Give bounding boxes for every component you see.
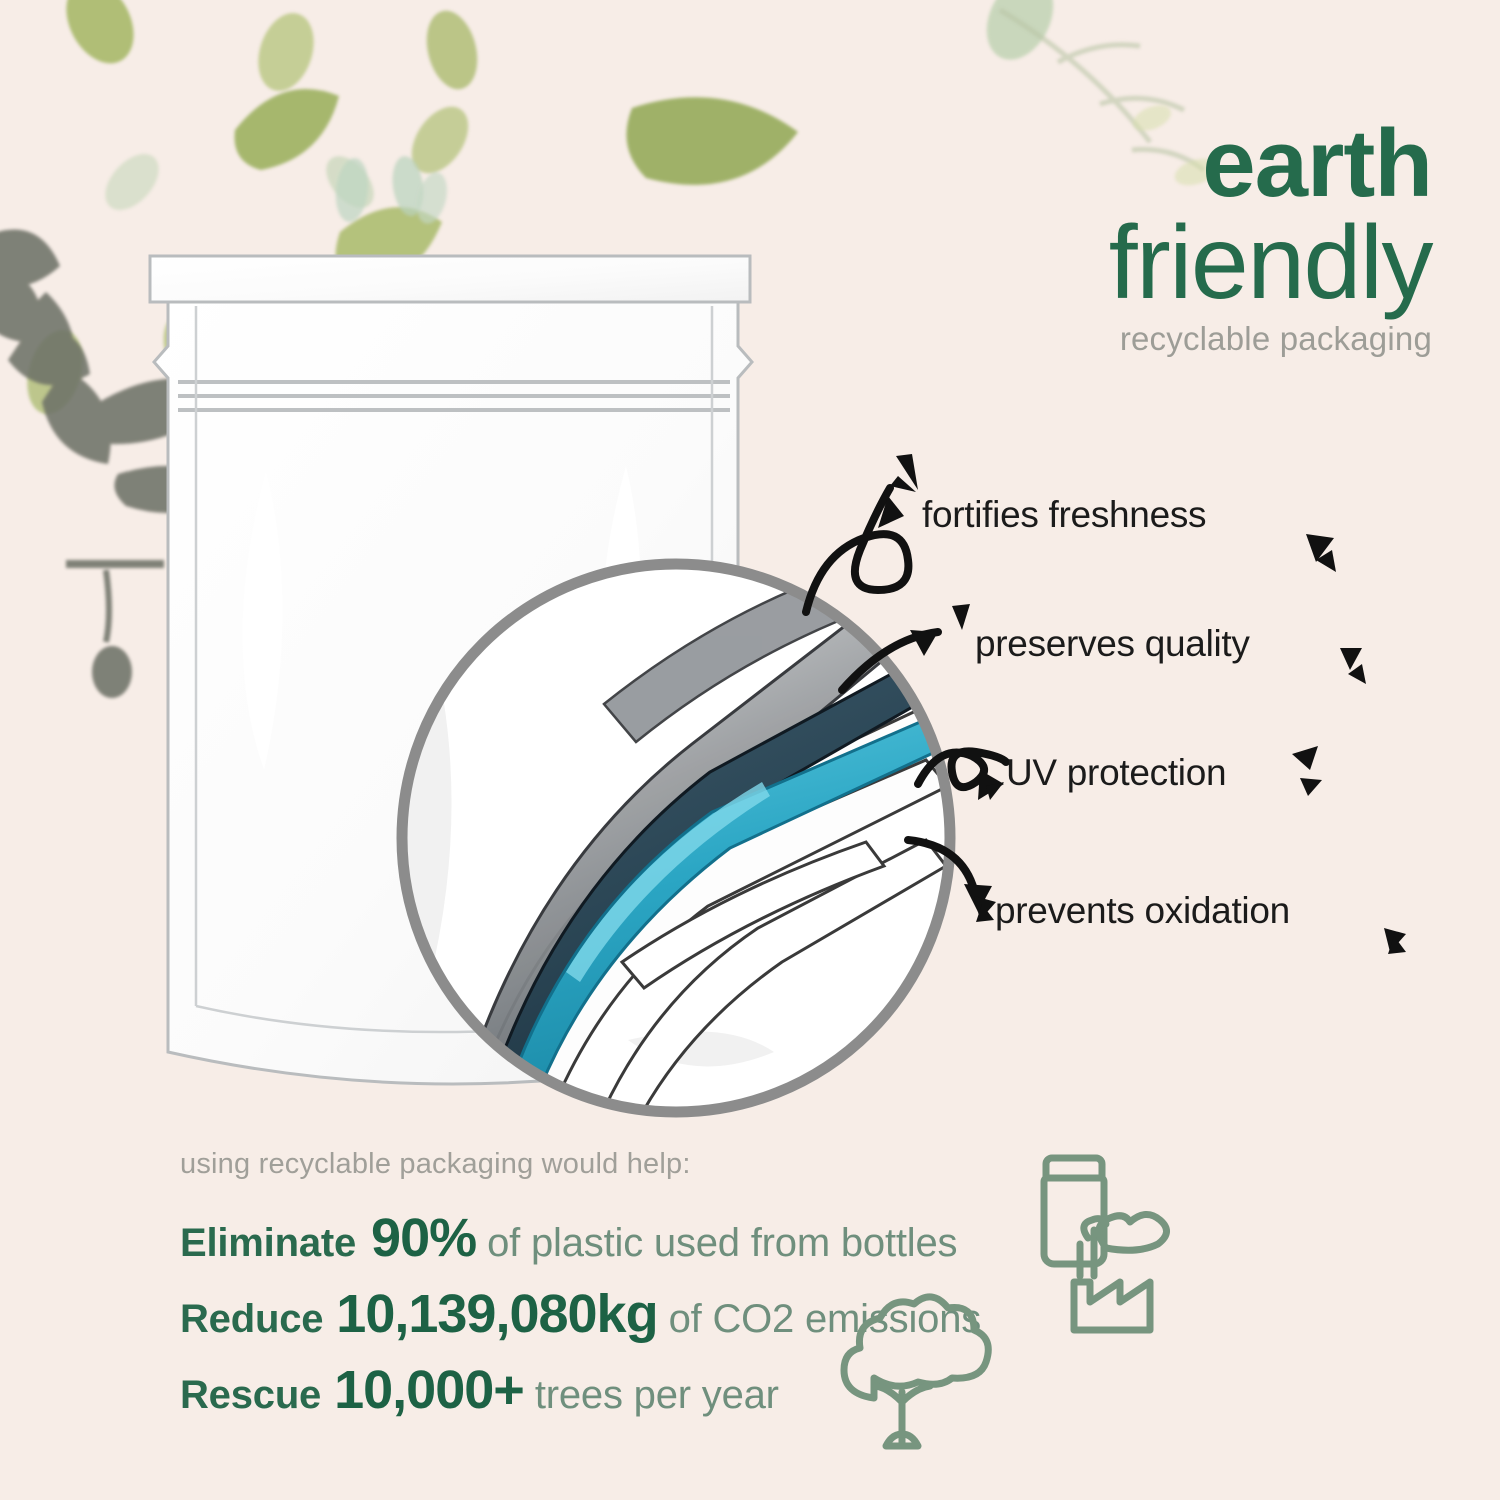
- factory-icon: [1074, 1214, 1167, 1330]
- tree-icon: [844, 1297, 988, 1446]
- stat-icons: [0, 0, 1500, 1500]
- infographic-canvas: earth friendly recyclable packaging fort…: [0, 0, 1500, 1500]
